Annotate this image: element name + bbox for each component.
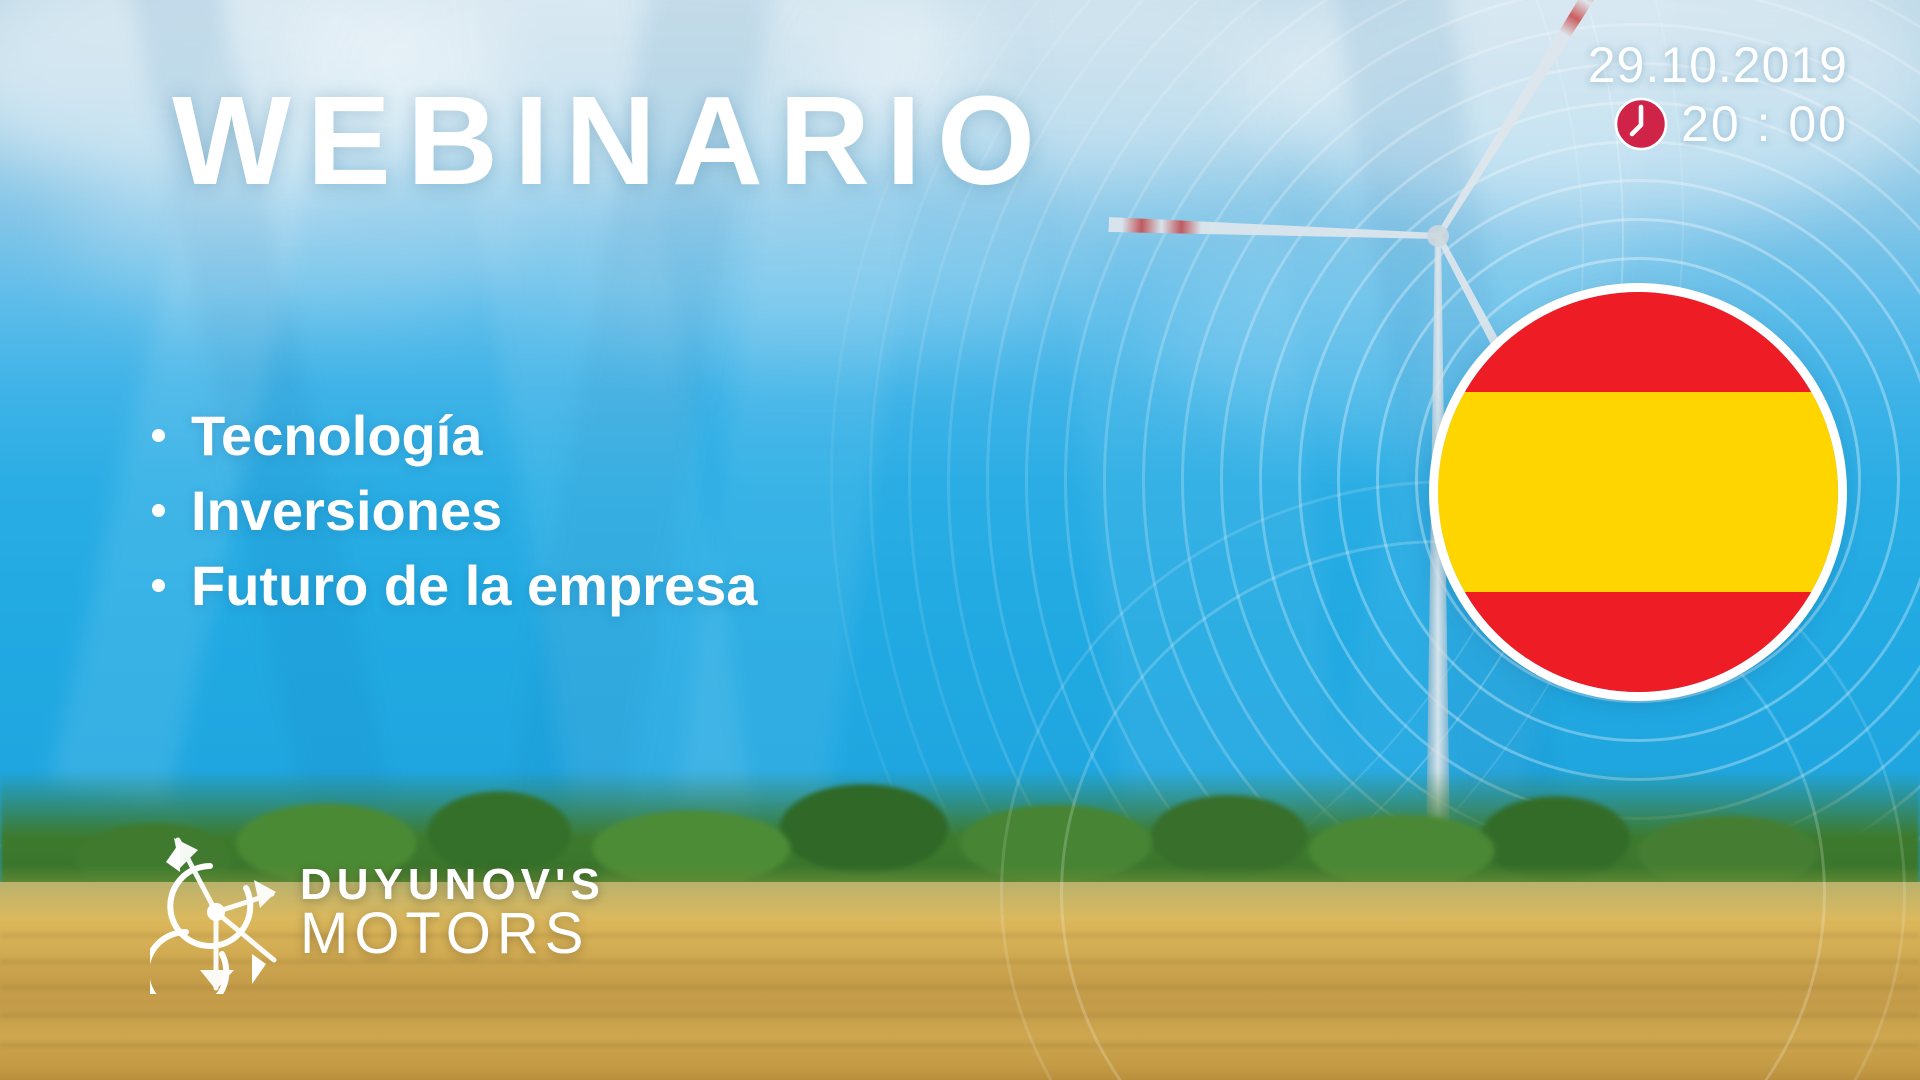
spain-flag-badge (1438, 292, 1838, 692)
bullet-dot-icon (152, 504, 165, 517)
webinar-date: 29.10.2019 (1588, 38, 1848, 92)
clock-icon (1613, 96, 1669, 152)
duyunovs-motors-emblem-icon (150, 832, 282, 994)
topic-label: Futuro de la empresa (191, 548, 757, 623)
topic-label: Inversiones (191, 473, 502, 548)
flag-band-red-top (1438, 292, 1838, 392)
field-streak (0, 1014, 1920, 1017)
list-item: Inversiones (152, 473, 757, 548)
flag-band-yellow (1438, 392, 1838, 592)
list-item: Tecnología (152, 398, 757, 473)
bullet-dot-icon (152, 579, 165, 592)
list-item: Futuro de la empresa (152, 548, 757, 623)
logo-line-2: MOTORS (300, 906, 605, 963)
logo-wordmark: DUYUNOV'S MOTORS (300, 863, 605, 963)
schedule-block: 29.10.2019 20 : 00 (1588, 38, 1848, 152)
page-title: WEBINARIO (172, 78, 1051, 204)
brand-logo: DUYUNOV'S MOTORS (150, 832, 605, 994)
flag-band-red-bottom (1438, 592, 1838, 692)
field-streak (0, 1044, 1920, 1047)
logo-line-1: DUYUNOV'S (300, 863, 605, 906)
webinar-time-row: 20 : 00 (1588, 96, 1848, 152)
webinar-time: 20 : 00 (1681, 98, 1848, 151)
topic-list: Tecnología Inversiones Futuro de la empr… (152, 398, 757, 623)
webinar-banner: WEBINARIO 29.10.2019 20 : 00 Tecnología … (0, 0, 1920, 1080)
turbine-hub (1427, 225, 1449, 247)
topic-label: Tecnología (191, 398, 482, 473)
bullet-dot-icon (152, 429, 165, 442)
